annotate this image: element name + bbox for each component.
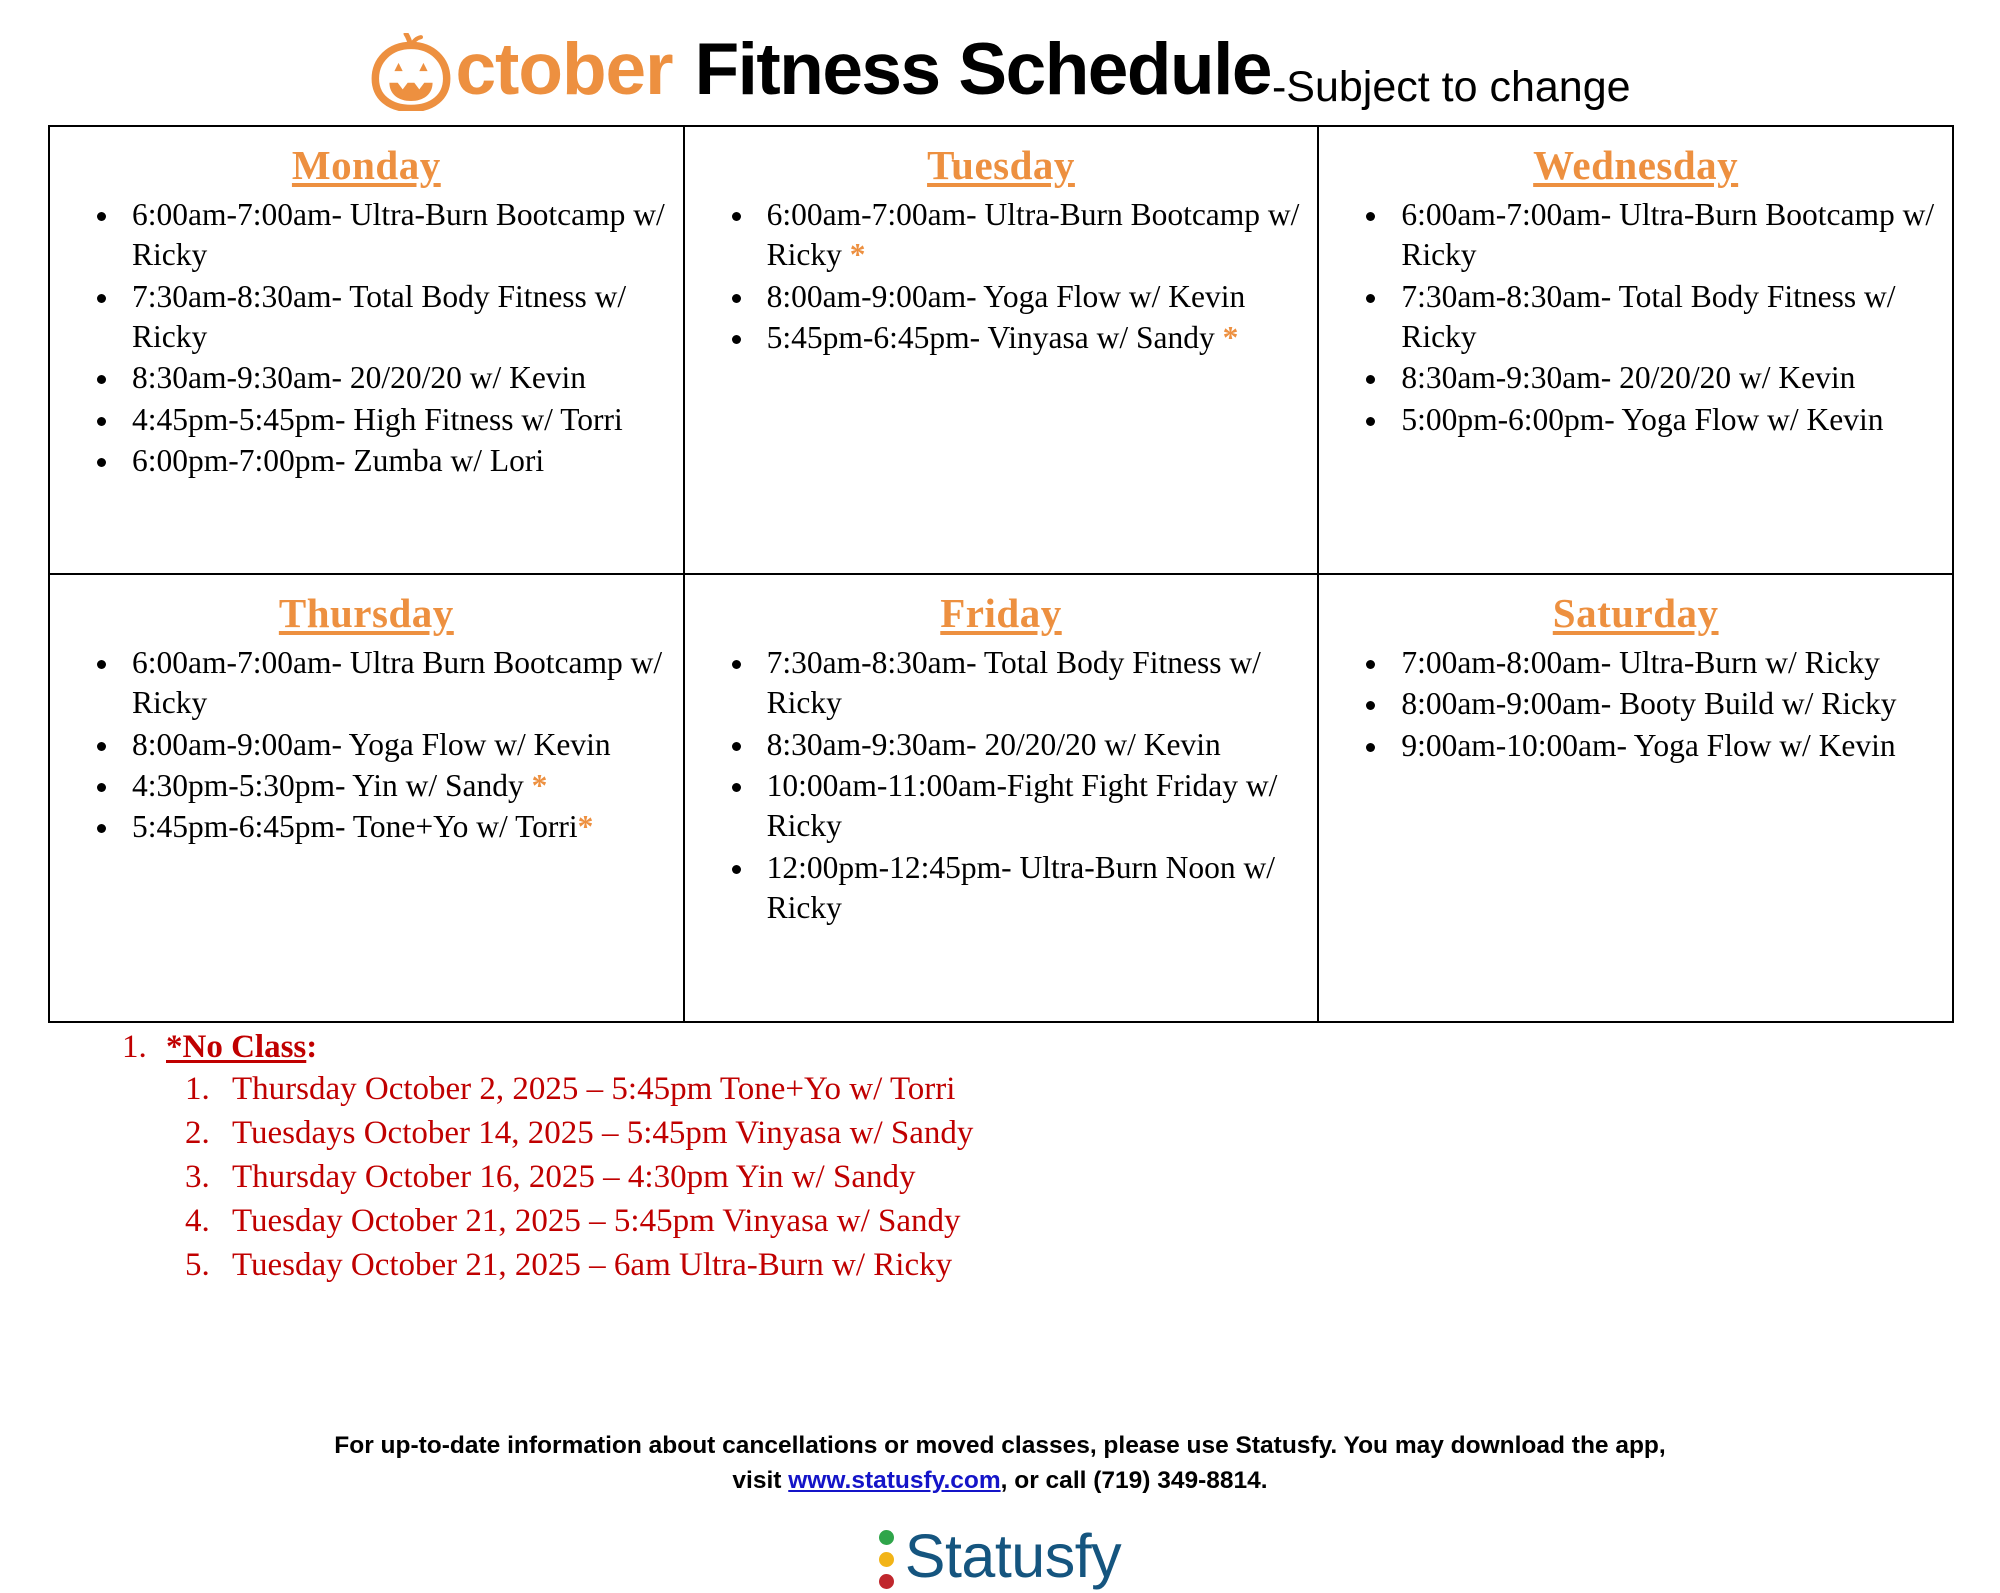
footer: For up-to-date information about cancell… (48, 1429, 1952, 1593)
title-subtitle: -Subject to change (1272, 66, 1631, 122)
day-heading-friday: Friday (695, 575, 1308, 643)
cancellation-asterisk: * (1223, 320, 1239, 355)
day-cell-saturday: Saturday 7:00am-8:00am- Ultra-Burn w/ Ri… (1318, 574, 1953, 1022)
schedule-table: Monday 6:00am-7:00am- Ultra-Burn Bootcam… (48, 125, 1954, 1023)
title-main-text: Fitness Schedule (695, 33, 1271, 106)
class-item: 12:00pm-12:45pm- Ultra-Burn Noon w/ Rick… (757, 848, 1308, 929)
class-item: 7:00am-8:00am- Ultra-Burn w/ Ricky (1391, 643, 1942, 683)
class-item: 8:00am-9:00am- Booty Build w/ Ricky (1391, 684, 1942, 724)
day-cell-friday: Friday 7:30am-8:30am- Total Body Fitness… (684, 574, 1319, 1022)
no-class-heading-colon: : (306, 1029, 317, 1065)
no-class-heading: *No Class: (166, 1029, 317, 1066)
dot-red-icon (879, 1574, 894, 1589)
class-item: 6:00am-7:00am- Ultra-Burn Bootcamp w/ Ri… (122, 195, 673, 276)
dot-yellow-icon (879, 1552, 894, 1567)
cancellation-asterisk: * (532, 768, 548, 803)
class-list-saturday: 7:00am-8:00am- Ultra-Burn w/ Ricky 8:00a… (1329, 643, 1942, 766)
class-list-thursday: 6:00am-7:00am- Ultra Burn Bootcamp w/ Ri… (60, 643, 673, 848)
class-item: 7:30am-8:30am- Total Body Fitness w/ Ric… (122, 277, 673, 358)
class-item: 7:30am-8:30am- Total Body Fitness w/ Ric… (1391, 277, 1942, 358)
class-item: 8:00am-9:00am- Yoga Flow w/ Kevin (122, 725, 673, 765)
footer-line-1: For up-to-date information about cancell… (48, 1429, 1952, 1464)
class-list-friday: 7:30am-8:30am- Total Body Fitness w/ Ric… (695, 643, 1308, 928)
list-item: Thursday October 2, 2025 – 5:45pm Tone+Y… (218, 1068, 1952, 1112)
footer-visit-prefix: visit (732, 1467, 788, 1494)
list-item: Thursday October 16, 2025 – 4:30pm Yin w… (218, 1156, 1952, 1200)
statusfy-dots-icon (879, 1521, 894, 1593)
class-item: 8:00am-9:00am- Yoga Flow w/ Kevin (757, 277, 1308, 317)
footer-phone-text: , or call (719) 349-8814. (1001, 1467, 1268, 1494)
no-class-notes: 1. *No Class: Thursday October 2, 2025 –… (48, 1029, 1952, 1287)
cancellation-asterisk: * (578, 809, 594, 844)
class-item: 5:45pm-6:45pm- Vinyasa w/ Sandy * (757, 318, 1308, 358)
day-heading-thursday: Thursday (60, 575, 673, 643)
day-cell-tuesday: Tuesday 6:00am-7:00am- Ultra-Burn Bootca… (684, 126, 1319, 574)
fitness-schedule-page: ctober Fitness Schedule -Subject to chan… (0, 0, 2000, 1545)
day-heading-wednesday: Wednesday (1329, 127, 1942, 195)
cancellation-asterisk: * (850, 237, 866, 272)
class-item: 6:00am-7:00am- Ultra Burn Bootcamp w/ Ri… (122, 643, 673, 724)
class-item: 8:30am-9:30am- 20/20/20 w/ Kevin (122, 358, 673, 398)
statusfy-logo: Statusfy (48, 1521, 1952, 1593)
class-item: 7:30am-8:30am- Total Body Fitness w/ Ric… (757, 643, 1308, 724)
day-heading-tuesday: Tuesday (695, 127, 1308, 195)
list-item: Tuesday October 21, 2025 – 6am Ultra-Bur… (218, 1244, 1952, 1288)
class-item: 6:00am-7:00am- Ultra-Burn Bootcamp w/ Ri… (1391, 195, 1942, 276)
statusfy-logo-text: Statusfy (905, 1526, 1121, 1587)
class-item: 5:45pm-6:45pm- Tone+Yo w/ Torri* (122, 807, 673, 847)
class-item: 9:00am-10:00am- Yoga Flow w/ Kevin (1391, 726, 1942, 766)
day-heading-monday: Monday (60, 127, 673, 195)
class-item: 10:00am-11:00am-Fight Fight Friday w/ Ri… (757, 766, 1308, 847)
day-cell-wednesday: Wednesday 6:00am-7:00am- Ultra-Burn Boot… (1318, 126, 1953, 574)
class-item: 4:30pm-5:30pm- Yin w/ Sandy * (122, 766, 673, 806)
schedule-row-2: Thursday 6:00am-7:00am- Ultra Burn Bootc… (49, 574, 1953, 1022)
class-item: 6:00pm-7:00pm- Zumba w/ Lori (122, 441, 673, 481)
no-class-list-number: 1. (122, 1029, 166, 1066)
class-list-tuesday: 6:00am-7:00am- Ultra-Burn Bootcamp w/ Ri… (695, 195, 1308, 358)
statusfy-website-link[interactable]: www.statusfy.com (788, 1467, 1000, 1494)
dot-green-icon (879, 1530, 894, 1545)
list-item: Tuesday October 21, 2025 – 5:45pm Vinyas… (218, 1200, 1952, 1244)
class-item: 8:30am-9:30am- 20/20/20 w/ Kevin (757, 725, 1308, 765)
pumpkin-icon (369, 33, 453, 111)
list-item: Tuesdays October 14, 2025 – 5:45pm Vinya… (218, 1112, 1952, 1156)
no-class-heading-row: 1. *No Class: (48, 1029, 1952, 1066)
title-october-word: ctober (455, 33, 672, 106)
class-list-wednesday: 6:00am-7:00am- Ultra-Burn Bootcamp w/ Ri… (1329, 195, 1942, 440)
class-item: 6:00am-7:00am- Ultra-Burn Bootcamp w/ Ri… (757, 195, 1308, 276)
day-heading-saturday: Saturday (1329, 575, 1942, 643)
no-class-items: Thursday October 2, 2025 – 5:45pm Tone+Y… (48, 1068, 1952, 1287)
no-class-heading-text: *No Class (166, 1029, 306, 1065)
class-item: 8:30am-9:30am- 20/20/20 w/ Kevin (1391, 358, 1942, 398)
schedule-row-1: Monday 6:00am-7:00am- Ultra-Burn Bootcam… (49, 126, 1953, 574)
day-cell-thursday: Thursday 6:00am-7:00am- Ultra Burn Bootc… (49, 574, 684, 1022)
day-cell-monday: Monday 6:00am-7:00am- Ultra-Burn Bootcam… (49, 126, 684, 574)
footer-line-2: visit www.statusfy.com, or call (719) 34… (48, 1464, 1952, 1499)
class-item: 5:00pm-6:00pm- Yoga Flow w/ Kevin (1391, 400, 1942, 440)
page-title: ctober Fitness Schedule -Subject to chan… (48, 0, 1952, 122)
class-list-monday: 6:00am-7:00am- Ultra-Burn Bootcamp w/ Ri… (60, 195, 673, 481)
class-item: 4:45pm-5:45pm- High Fitness w/ Torri (122, 400, 673, 440)
